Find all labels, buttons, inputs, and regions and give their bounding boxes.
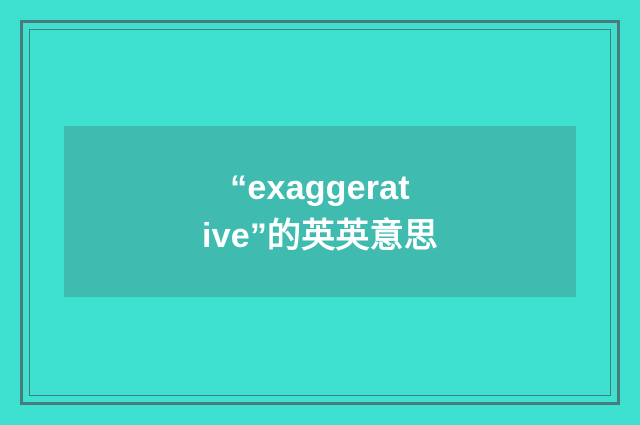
headline-line-1: “exaggerat (230, 164, 410, 212)
title-card: “exaggerat ive”的英英意思 (0, 0, 640, 425)
headline-panel: “exaggerat ive”的英英意思 (64, 126, 576, 297)
headline-line-2: ive”的英英意思 (202, 212, 438, 260)
